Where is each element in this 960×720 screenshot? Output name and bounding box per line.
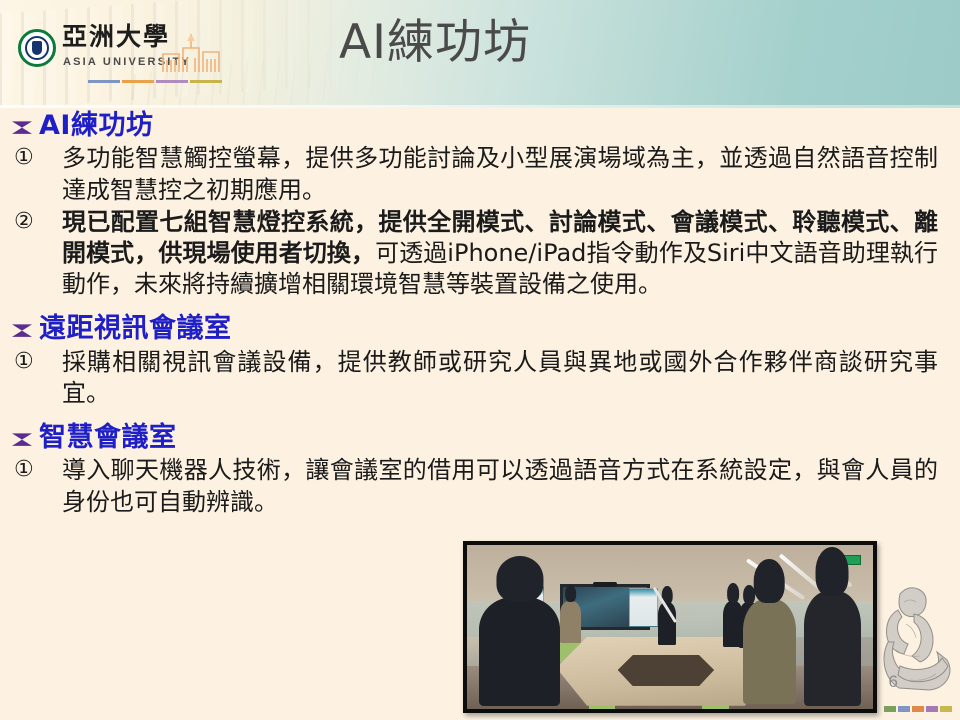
diamond-bullet-icon: [12, 325, 32, 337]
section-heading-1-label: AI練功坊: [39, 112, 153, 140]
photo-attendee: [804, 591, 861, 706]
list-item-number: ①: [14, 456, 34, 485]
list-item-text: 多功能智慧觸控螢幕，提供多功能討論及小型展演場域為主，並透過自然語音控制達成智慧…: [62, 144, 938, 203]
list-item-text: 採購相關視訊會議設備，提供教師或研究人員與異地或國外合作夥伴商談研究事宜。: [62, 348, 938, 407]
section-heading-3: 智慧會議室: [0, 424, 960, 452]
thinker-statue-watermark: [870, 580, 956, 696]
list-item-number: ①: [14, 348, 34, 377]
list-item-number: ①: [14, 144, 34, 173]
smart-conference-room-photo: [463, 541, 877, 713]
section-smart-conference-room: 智慧會議室 ① 導入聊天機器人技術，讓會議室的借用可以透過語音方式在系統設定，與…: [0, 424, 960, 518]
list-item: ① 多功能智慧觸控螢幕，提供多功能討論及小型展演場域為主，並透過自然語音控制達成…: [0, 143, 960, 205]
slide-content: AI練功坊 ① 多功能智慧觸控螢幕，提供多功能討論及小型展演場域為主，並透過自然…: [0, 112, 960, 519]
header-divider: [0, 105, 960, 108]
section-ai-practice-workshop: AI練功坊 ① 多功能智慧觸控螢幕，提供多功能討論及小型展演場域為主，並透過自然…: [0, 112, 960, 300]
list-item-text: 導入聊天機器人技術，讓會議室的借用可以透過語音方式在系統設定，與會人員的身份也可…: [62, 456, 938, 515]
section-2-item-list: ① 採購相關視訊會議設備，提供教師或研究人員與異地或國外合作夥伴商談研究事宜。: [0, 347, 960, 409]
section-heading-3-label: 智慧會議室: [39, 424, 177, 452]
logo-color-bars: [88, 80, 222, 83]
photo-attendee: [743, 599, 796, 704]
photo-attendee: [479, 597, 560, 705]
list-item: ① 導入聊天機器人技術，讓會議室的借用可以透過語音方式在系統設定，與會人員的身份…: [0, 455, 960, 517]
page-number: 6: [889, 672, 898, 692]
slide-root: 亞洲大學 ASIA UNIVERSITY AI練功坊: [0, 0, 960, 720]
section-3-item-list: ① 導入聊天機器人技術，讓會議室的借用可以透過語音方式在系統設定，與會人員的身份…: [0, 455, 960, 517]
list-item: ②現已配置七組智慧燈控系統，提供全開模式、討論模式、會議模式、聆聽模式、離開模式…: [0, 207, 960, 301]
section-heading-2: 遠距視訊會議室: [0, 315, 960, 343]
footer-color-bars: [884, 706, 952, 712]
section-1-item-list: ① 多功能智慧觸控螢幕，提供多功能討論及小型展演場域為主，並透過自然語音控制達成…: [0, 143, 960, 300]
list-item-number: ②: [14, 208, 34, 237]
photo-presenter: [560, 601, 580, 644]
list-item: ① 採購相關視訊會議設備，提供教師或研究人員與異地或國外合作夥伴商談研究事宜。: [0, 347, 960, 409]
slide-header-banner: 亞洲大學 ASIA UNIVERSITY AI練功坊: [0, 0, 960, 108]
page-title: AI練功坊: [0, 16, 960, 70]
section-remote-video-conference-room: 遠距視訊會議室 ① 採購相關視訊會議設備，提供教師或研究人員與異地或國外合作夥伴…: [0, 315, 960, 409]
diamond-bullet-icon: [12, 122, 32, 134]
photo-poster: [629, 588, 657, 627]
diamond-bullet-icon: [12, 434, 32, 446]
section-heading-2-label: 遠距視訊會議室: [39, 315, 232, 343]
section-heading-1: AI練功坊: [0, 112, 960, 140]
